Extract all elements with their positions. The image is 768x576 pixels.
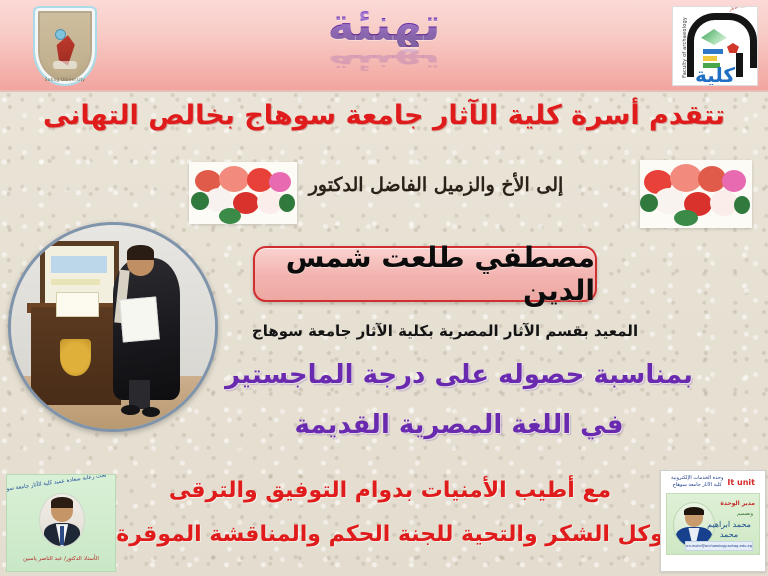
wish-line-2: وكل الشكر والتحية للجنة الحكم والمناقشة … [110,522,670,547]
faculty-of-archaeology-logo-icon: كلية الآثار Faculty of archaeology كلية [672,6,758,86]
it-manager-email: Mohamed.ibra.mohr@archaeology.sohag.edu.… [685,541,753,551]
occasion-line-2: في اللغة المصرية القديمة [150,410,768,440]
poster-header-band: Sohag University تهنئة تهنئة كلية الآثار… [0,0,768,92]
it-manager-name: محمد ابراهيم محمد [703,520,755,539]
poster-title-block: تهنئة تهنئة [0,6,768,82]
dean-patronage-card: تحت رعاية سعادة عميد كلية الآثار جامعة س… [6,474,116,572]
honoree-job-title: المعيد بقسم الآثار المصرية بكلية الآثار … [210,322,680,340]
occasion-line-1: بمناسبة حصوله على درجة الماجستير [150,360,768,390]
faculty-logo-bar-blue-icon [703,49,723,54]
page-title: تهنئة [323,1,444,47]
congrats-opening-line: تتقدم أسرة كلية الآثار جامعة سوهاج بخالص… [0,100,768,131]
flower-bouquet-right-image [640,160,752,228]
addressee-line: إلى الأخ والزميل الفاضل الدكتور [236,174,636,196]
it-unit-english-label: It unit [727,478,755,487]
it-unit-arabic-label: وحدة الخدمات الإلكترونية كلية الآثار جام… [671,475,723,489]
faculty-logo-bar-yellow-icon [703,56,717,61]
honoree-name: مصطفي طلعت شمس الدين [255,241,595,307]
dean-avatar [39,493,85,547]
it-unit-card: It unit وحدة الخدمات الإلكترونية كلية ال… [660,470,766,572]
it-manager-role: مدير الوحدة [720,500,755,507]
it-unit-header: It unit وحدة الخدمات الإلكترونية كلية ال… [661,473,765,491]
faculty-logo-side-text: Faculty of archaeology [682,17,688,63]
it-manager-subrole: وتصميم [737,511,753,517]
graduate-photo [8,222,218,432]
faculty-logo-arabic-word: كلية [673,65,757,85]
honoree-name-box: مصطفي طلعت شمس الدين [253,246,597,302]
page-title-reflection: تهنئة [327,51,440,76]
congratulation-poster: Sohag University تهنئة تهنئة كلية الآثار… [0,0,768,576]
dean-name-caption: الأستاذ الدكتور/ عبد الناصر ياسين [7,556,115,562]
wish-line-1: مع أطيب الأمنيات بدوام التوفيق والترقى [110,478,670,503]
